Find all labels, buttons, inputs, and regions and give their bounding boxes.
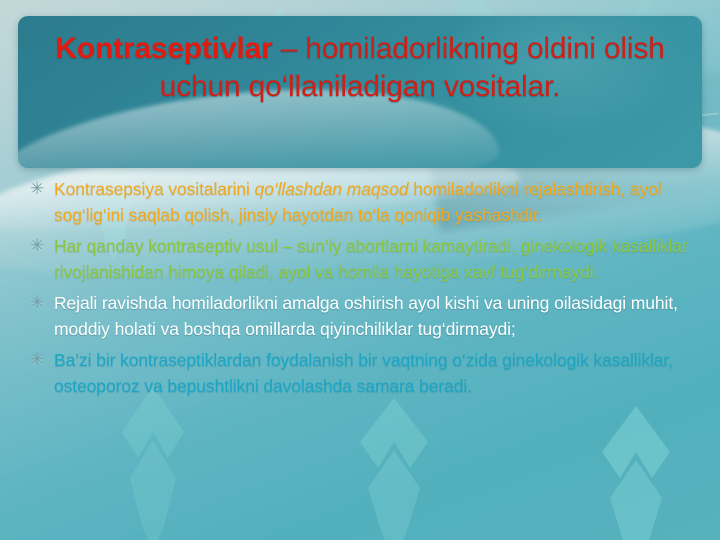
slide-title-box: Kontraseptivlar – homiladorlikning oldin…: [18, 16, 702, 168]
list-item: ✳ Har qanday kontraseptiv usul – sun’iy …: [30, 233, 694, 285]
bullet-list: ✳ Kontrasepsiya vositalarini qo‘llashdan…: [30, 176, 694, 404]
list-item-text: Rejali ravishda homiladorlikni amalga os…: [54, 290, 694, 342]
slide-title-keyword: Kontraseptivlar: [55, 32, 272, 65]
ribbon-watermark-icon: [330, 392, 458, 540]
presentation-slide: Kontraseptivlar – homiladorlikning oldin…: [0, 0, 720, 540]
asterisk-bullet-icon: ✳: [30, 233, 54, 259]
slide-title: Kontraseptivlar – homiladorlikning oldin…: [18, 16, 702, 106]
ribbon-watermark-icon: [570, 400, 702, 540]
list-item-text: Kontrasepsiya vositalarini qo‘llashdan m…: [54, 176, 694, 228]
list-item-text-emphasis: qo‘llashdan maqsod: [255, 179, 409, 199]
list-item: ✳ Kontrasepsiya vositalarini qo‘llashdan…: [30, 176, 694, 228]
asterisk-bullet-icon: ✳: [30, 176, 54, 202]
list-item: ✳ Rejali ravishda homiladorlikni amalga …: [30, 290, 694, 342]
list-item-text: Ba’zi bir kontraseptiklardan foydalanish…: [54, 347, 694, 399]
list-item: ✳ Ba’zi bir kontraseptiklardan foydalani…: [30, 347, 694, 399]
asterisk-bullet-icon: ✳: [30, 347, 54, 373]
ribbon-watermark-icon: [98, 380, 208, 540]
list-item-text: Har qanday kontraseptiv usul – sun’iy ab…: [54, 233, 694, 285]
list-item-text-part: Kontrasepsiya vositalarini: [54, 179, 255, 199]
asterisk-bullet-icon: ✳: [30, 290, 54, 316]
